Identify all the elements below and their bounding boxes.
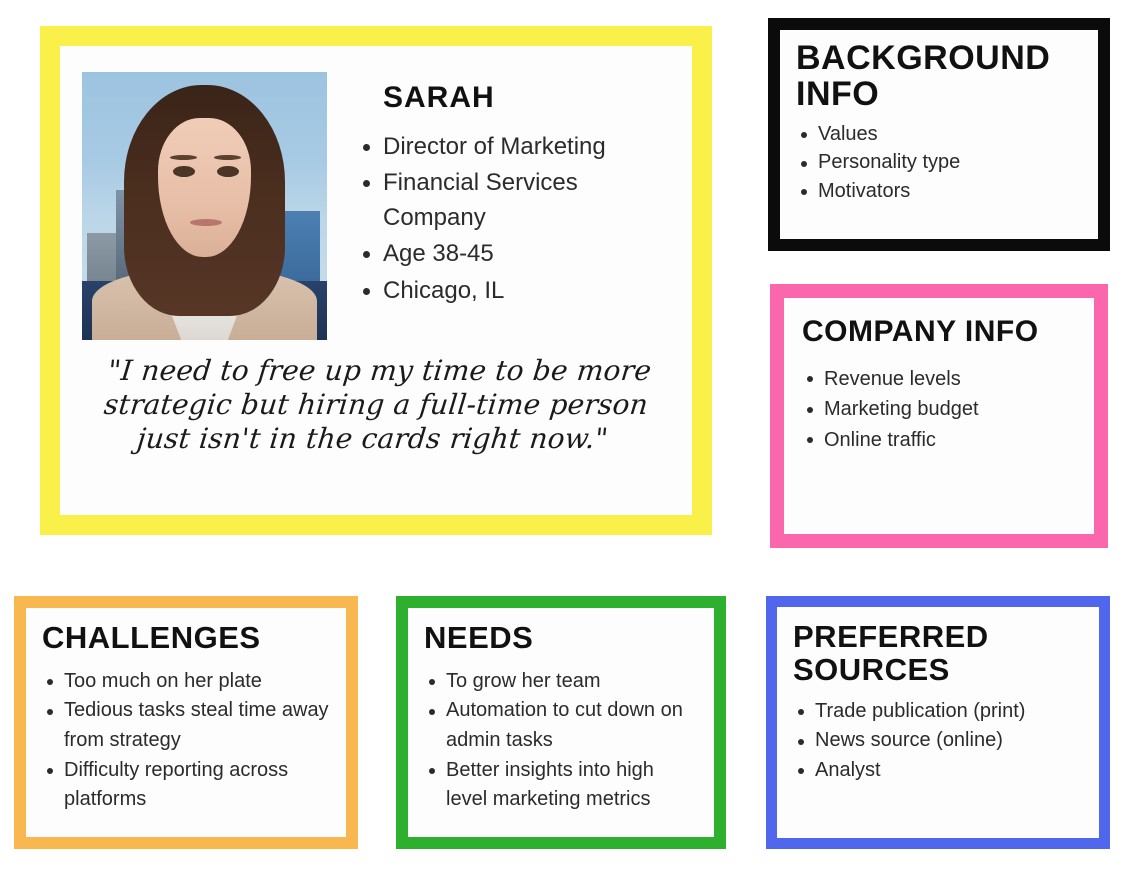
list-item: Chicago, IL	[357, 274, 670, 309]
challenges-list: Too much on her plate Tedious tasks stea…	[42, 667, 330, 815]
list-item: Tedious tasks steal time away from strat…	[42, 696, 330, 755]
list-item: Online traffic	[802, 425, 1076, 455]
list-item: Values	[796, 120, 1082, 148]
company-info-card-inner: COMPANY INFO Revenue levels Marketing bu…	[784, 298, 1094, 534]
challenges-title: CHALLENGES	[42, 622, 330, 655]
photo-eye	[217, 166, 239, 177]
challenges-card-inner: CHALLENGES Too much on her plate Tedious…	[26, 608, 346, 837]
needs-card-inner: NEEDS To grow her team Automation to cut…	[408, 608, 714, 837]
challenges-card: CHALLENGES Too much on her plate Tedious…	[14, 596, 358, 849]
profile-header-row: SARAH Director of Marketing Financial Se…	[82, 72, 670, 340]
persona-photo	[82, 72, 327, 340]
background-info-card: BACKGROUND INFO Values Personality type …	[768, 18, 1110, 251]
company-info-card: COMPANY INFO Revenue levels Marketing bu…	[770, 284, 1108, 548]
list-item: Financial Services Company	[357, 166, 670, 235]
photo-eyebrow	[170, 155, 197, 160]
list-item: Motivators	[796, 177, 1082, 205]
photo-eye	[173, 166, 195, 177]
list-item: Trade publication (print)	[793, 697, 1083, 727]
list-item: Difficulty reporting across platforms	[42, 756, 330, 815]
list-item: Age 38-45	[357, 237, 670, 272]
company-info-title: COMPANY INFO	[802, 316, 1076, 348]
list-item: Better insights into high level marketin…	[424, 756, 698, 815]
profile-card: SARAH Director of Marketing Financial Se…	[40, 26, 712, 535]
preferred-sources-card: PREFERRED SOURCES Trade publication (pri…	[766, 596, 1110, 849]
background-info-title: BACKGROUND INFO	[796, 40, 1082, 112]
list-item: Too much on her plate	[42, 667, 330, 697]
profile-attribute-list: Director of Marketing Financial Services…	[357, 130, 670, 309]
needs-card: NEEDS To grow her team Automation to cut…	[396, 596, 726, 849]
list-item: Marketing budget	[802, 394, 1076, 424]
list-item: To grow her team	[424, 667, 698, 697]
background-info-list: Values Personality type Motivators	[796, 120, 1082, 205]
preferred-sources-card-inner: PREFERRED SOURCES Trade publication (pri…	[777, 607, 1099, 838]
persona-quote: "I need to free up my time to be more st…	[77, 354, 676, 456]
company-info-list: Revenue levels Marketing budget Online t…	[802, 364, 1076, 455]
buyer-persona-board: SARAH Director of Marketing Financial Se…	[0, 0, 1125, 870]
list-item: Automation to cut down on admin tasks	[424, 696, 698, 755]
needs-title: NEEDS	[424, 622, 698, 655]
list-item: Analyst	[793, 756, 1083, 786]
list-item: Revenue levels	[802, 364, 1076, 394]
profile-card-inner: SARAH Director of Marketing Financial Se…	[60, 46, 692, 515]
profile-details: SARAH Director of Marketing Financial Se…	[357, 72, 670, 311]
preferred-sources-title: PREFERRED SOURCES	[793, 621, 1083, 687]
list-item: Director of Marketing	[357, 130, 670, 165]
needs-list: To grow her team Automation to cut down …	[424, 667, 698, 815]
preferred-sources-list: Trade publication (print) News source (o…	[793, 697, 1083, 786]
list-item: News source (online)	[793, 726, 1083, 756]
persona-name: SARAH	[383, 82, 670, 114]
photo-eyebrow	[214, 155, 241, 160]
list-item: Personality type	[796, 148, 1082, 176]
background-info-card-inner: BACKGROUND INFO Values Personality type …	[780, 30, 1098, 239]
